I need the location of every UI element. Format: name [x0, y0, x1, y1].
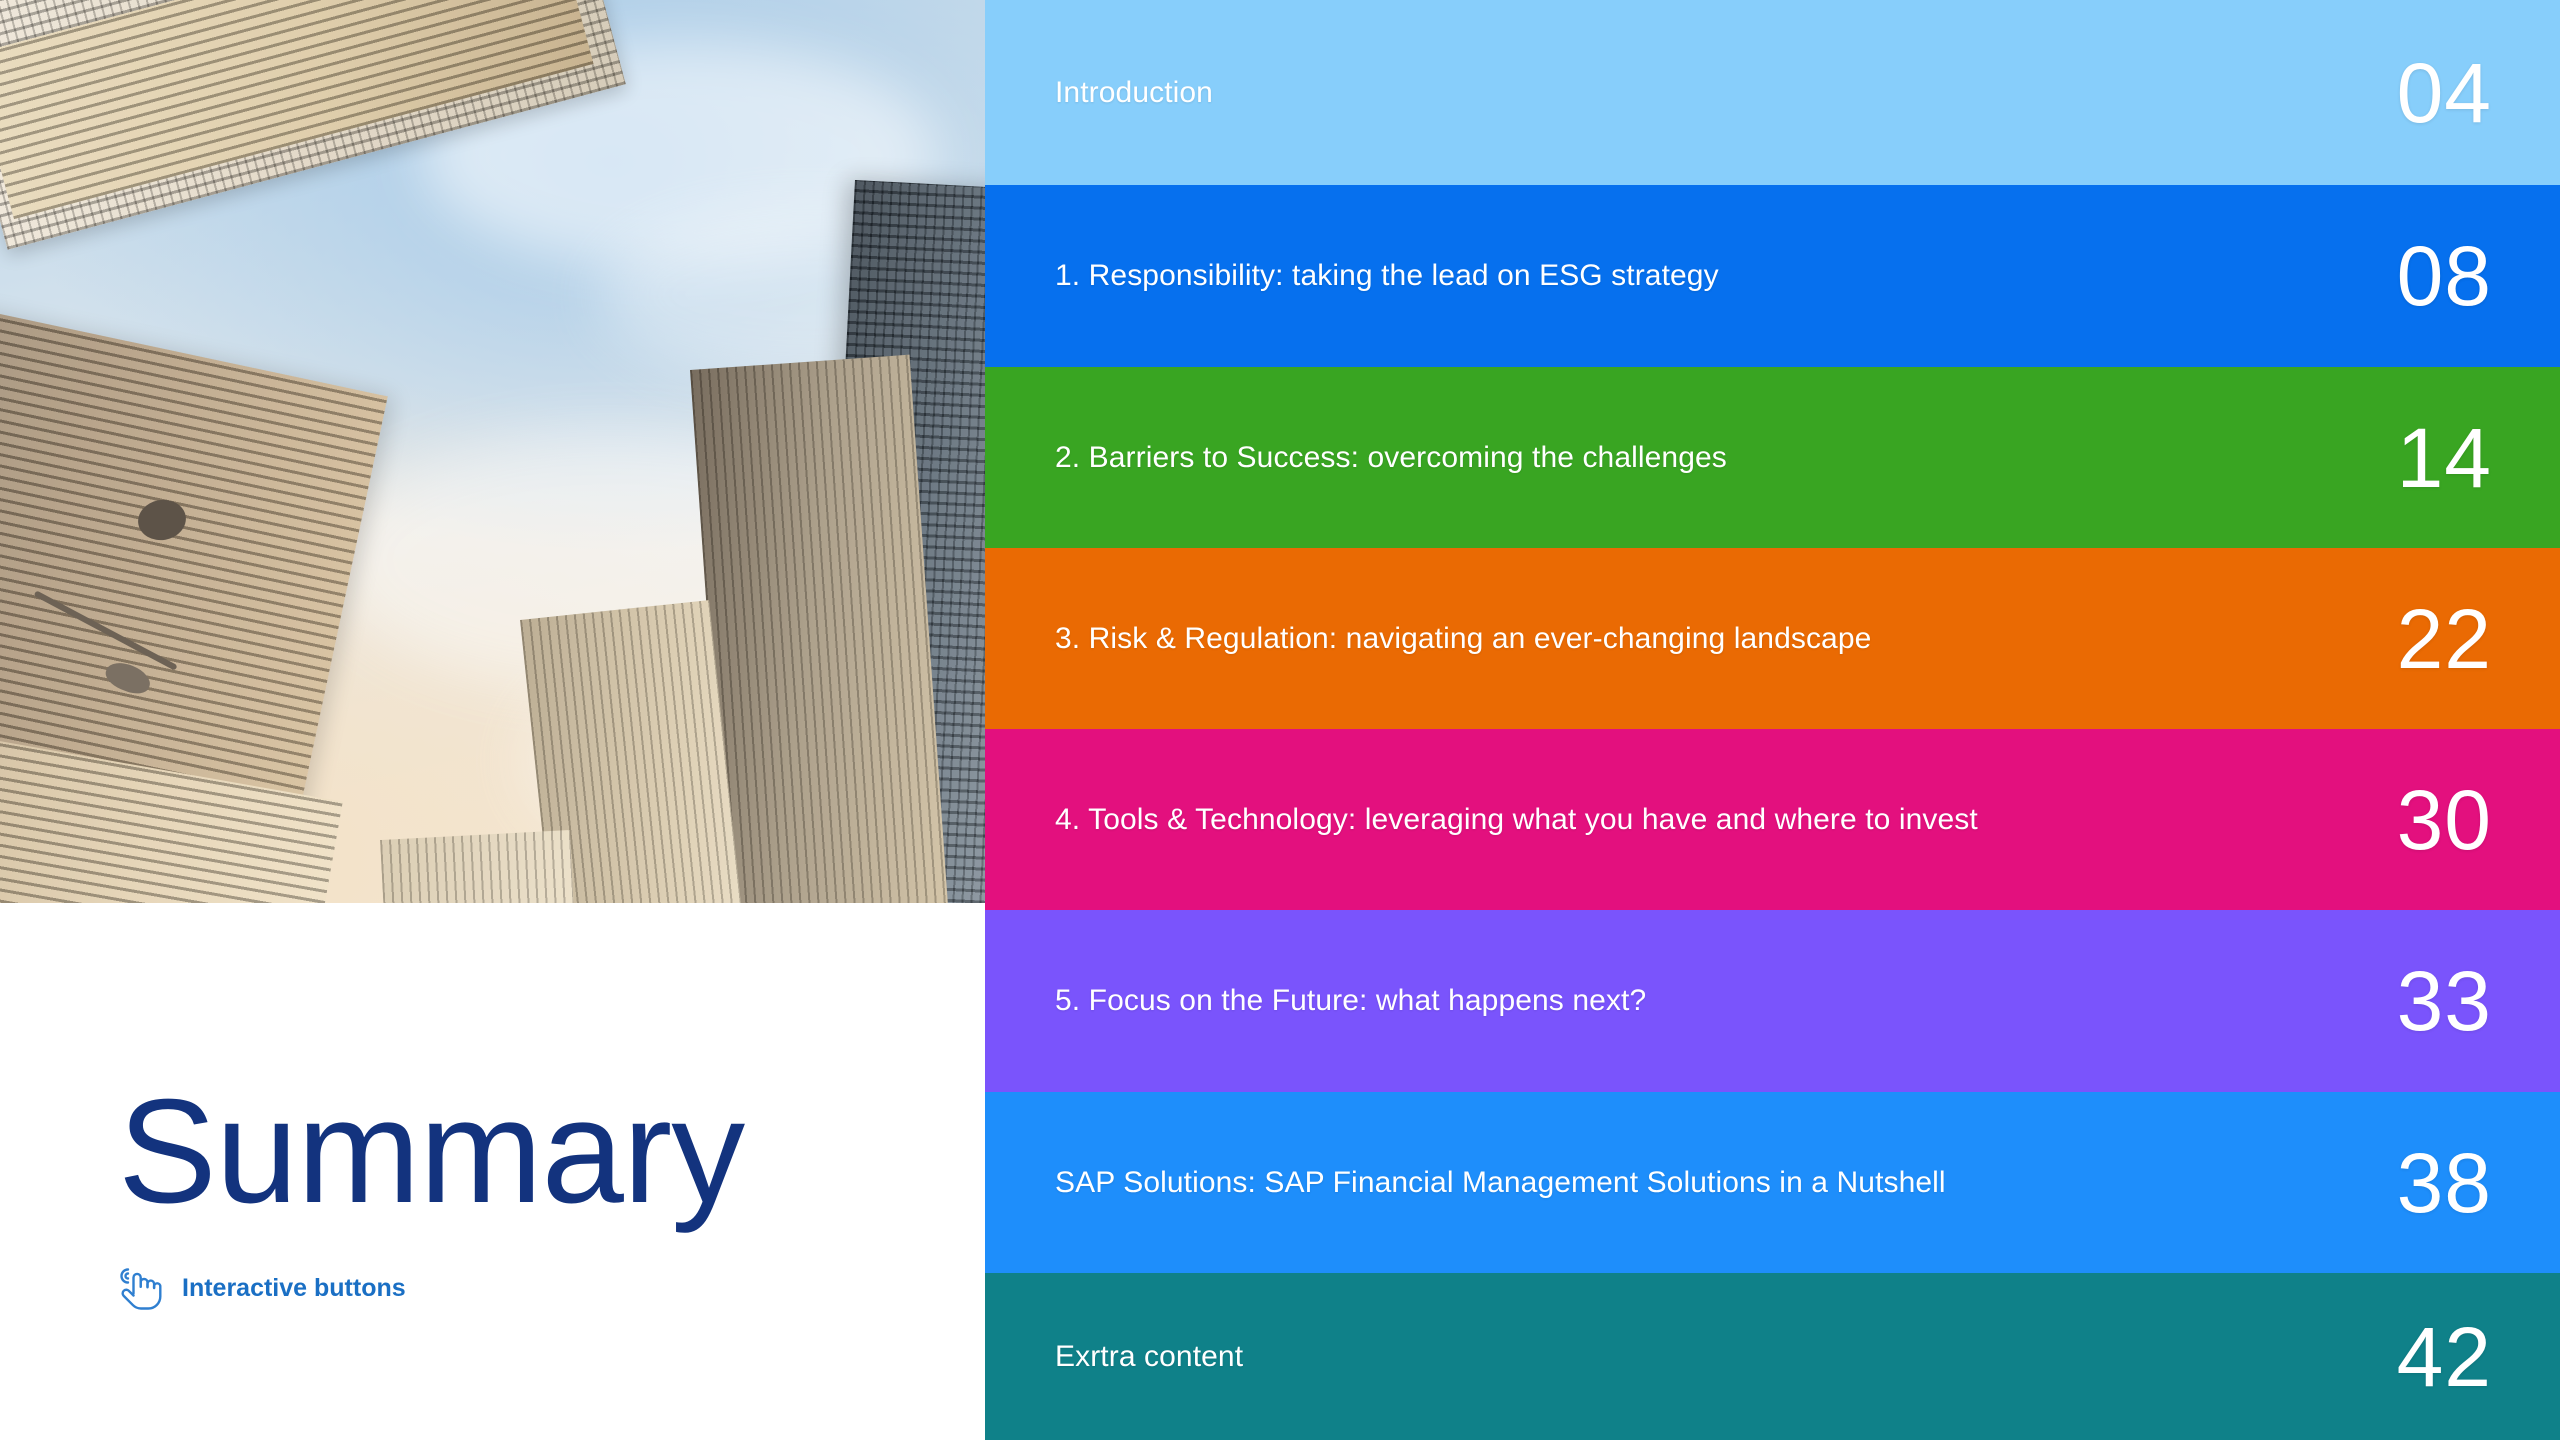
toc-row-tools-and-technology[interactable]: 4. Tools & Technology: leveraging what y… — [985, 729, 2560, 910]
hand-pointer-icon — [114, 1263, 168, 1313]
window-grid — [380, 830, 576, 903]
toc-row-label: Exrtra content — [1055, 1339, 2352, 1375]
summary-slide: Summary Interactive buttons Intr — [0, 0, 2560, 1440]
toc-row-introduction[interactable]: Introduction 04 — [985, 0, 2560, 185]
interactive-buttons-label: Interactive buttons — [182, 1274, 406, 1303]
table-of-contents: Introduction 04 1. Responsibility: takin… — [985, 0, 2560, 1440]
toc-row-extra-content[interactable]: Exrtra content 42 — [985, 1273, 2560, 1440]
toc-row-focus-on-the-future[interactable]: 5. Focus on the Future: what happens nex… — [985, 910, 2560, 1092]
toc-row-barriers-to-success[interactable]: 2. Barriers to Success: overcoming the c… — [985, 367, 2560, 548]
toc-row-label: SAP Solutions: SAP Financial Management … — [1055, 1165, 2352, 1201]
title-block: Summary Interactive buttons — [0, 903, 985, 1440]
toc-row-page-number: 42 — [2352, 1315, 2492, 1399]
toc-row-sap-solutions[interactable]: SAP Solutions: SAP Financial Management … — [985, 1092, 2560, 1273]
interactive-buttons-hint: Interactive buttons — [114, 1263, 406, 1313]
toc-row-label: 1. Responsibility: taking the lead on ES… — [1055, 258, 2352, 294]
toc-row-label: 3. Risk & Regulation: navigating an ever… — [1055, 621, 2352, 657]
toc-row-page-number: 22 — [2352, 597, 2492, 681]
page-title: Summary — [118, 1078, 744, 1226]
toc-row-responsibility[interactable]: 1. Responsibility: taking the lead on ES… — [985, 185, 2560, 367]
toc-row-label: Introduction — [1055, 75, 2352, 111]
left-column: Summary Interactive buttons — [0, 0, 985, 1440]
toc-row-page-number: 14 — [2352, 416, 2492, 500]
toc-row-page-number: 08 — [2352, 234, 2492, 318]
toc-row-page-number: 38 — [2352, 1141, 2492, 1225]
toc-row-page-number: 30 — [2352, 778, 2492, 862]
toc-row-risk-and-regulation[interactable]: 3. Risk & Regulation: navigating an ever… — [985, 548, 2560, 729]
city-skyscrapers-photo — [0, 0, 985, 903]
toc-row-page-number: 04 — [2352, 51, 2492, 135]
toc-row-page-number: 33 — [2352, 959, 2492, 1043]
toc-row-label: 5. Focus on the Future: what happens nex… — [1055, 983, 2352, 1019]
building-bottom-mid — [380, 830, 576, 903]
toc-row-label: 4. Tools & Technology: leveraging what y… — [1055, 802, 2352, 838]
toc-row-label: 2. Barriers to Success: overcoming the c… — [1055, 440, 2352, 476]
